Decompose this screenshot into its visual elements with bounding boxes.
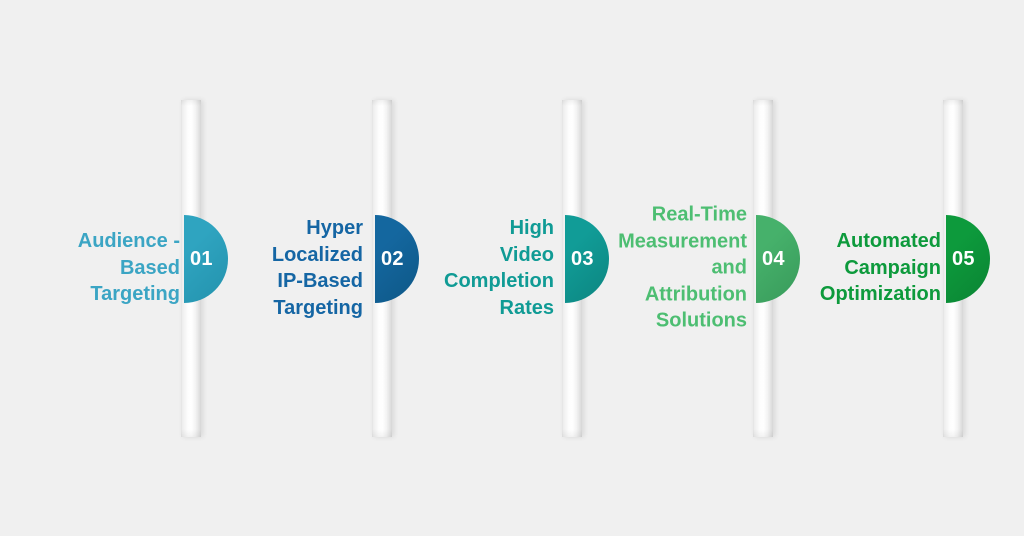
step-label-05: Automated Campaign Optimization	[776, 228, 941, 308]
step-number-text: 02	[375, 249, 404, 269]
step-label-02: Hyper Localized IP-Based Targeting	[205, 215, 363, 321]
step-number-text: 01	[184, 249, 213, 269]
step-number-text: 05	[946, 249, 975, 269]
step-number-badge-05[interactable]: 05	[946, 215, 990, 303]
process-infographic: 01Audience - Based Targeting02Hyper Loca…	[0, 0, 1024, 536]
step-label-01: Audience - Based Targeting	[10, 228, 180, 308]
step-number-text: 03	[565, 249, 594, 269]
step-number-text: 04	[756, 249, 785, 269]
step-label-04: Real-Time Measurement and Attribution So…	[586, 202, 747, 335]
step-label-03: High Video Completion Rates	[396, 215, 554, 321]
